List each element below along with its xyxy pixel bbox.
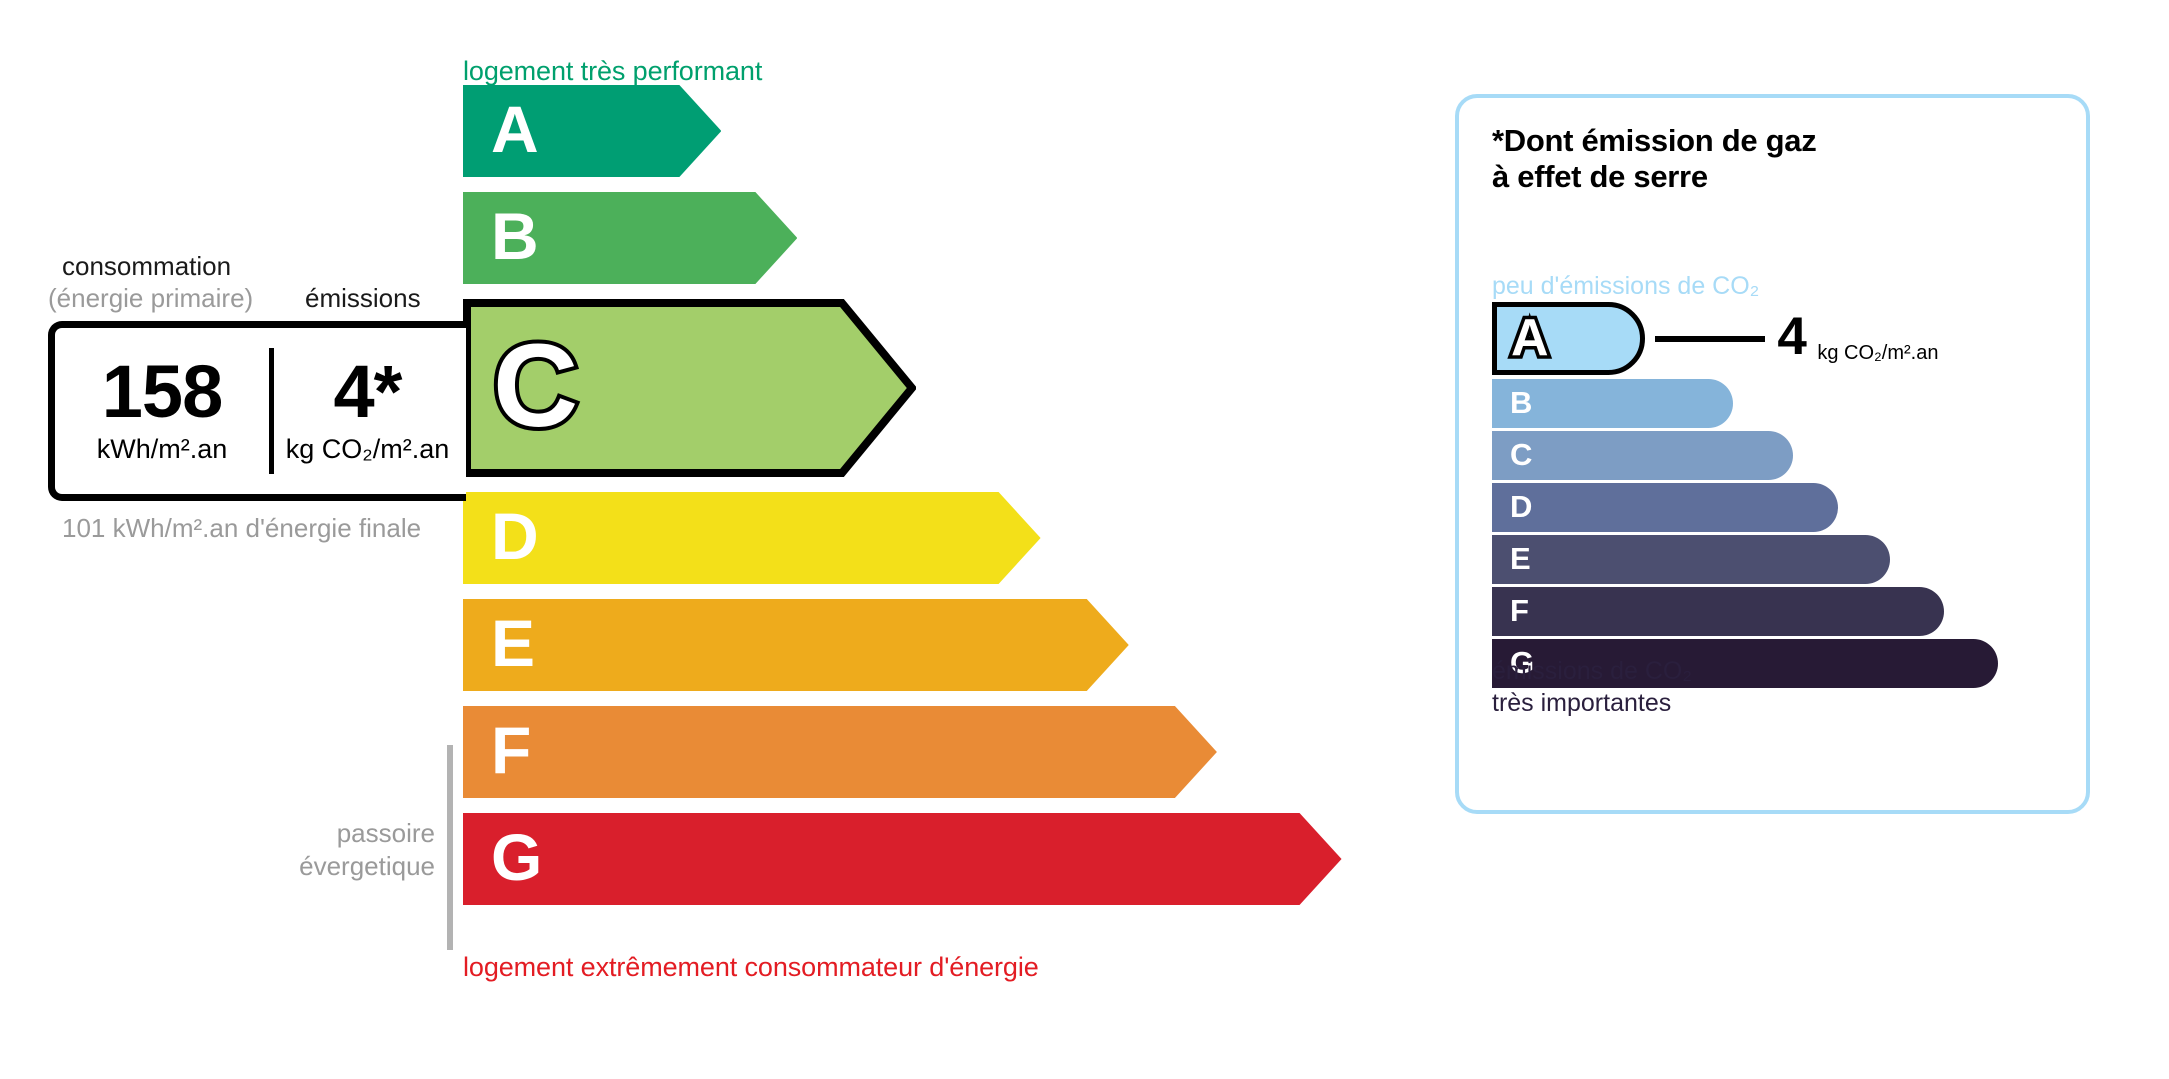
value-box-divider (269, 348, 274, 474)
energy-band-e: E (463, 599, 1129, 691)
emissions-label: émissions (305, 283, 421, 314)
ghg-bar-list: A4kg CO₂/m².anBCDEFG (1492, 302, 2062, 691)
energy-band-letter: C (493, 327, 578, 445)
energy-bottom-caption: logement extrêmement consommateur d'éner… (463, 952, 1039, 983)
ghg-bar-c: C (1492, 431, 1793, 480)
energy-band-letter: E (491, 610, 535, 676)
ghg-bar-letter: B (1510, 387, 1532, 418)
ghg-panel-title: *Dont émission de gaz à effet de serre (1492, 123, 1816, 196)
energy-band-letter: D (491, 503, 539, 569)
energy-band-letter: A (491, 96, 539, 162)
energy-band-letter: F (491, 717, 531, 783)
consumption-sub-label: (énergie primaire) (48, 283, 253, 314)
emissions-value: 4* (334, 357, 402, 427)
consumption-label: consommation (62, 251, 231, 282)
ghg-row-d: D (1492, 483, 2062, 532)
ghg-row-b: B (1492, 379, 2062, 428)
ghg-row-e: E (1492, 535, 2062, 584)
ghg-bar-b: B (1492, 379, 1733, 428)
ghg-bar-letter: D (1510, 491, 1532, 522)
energy-band-b: B (463, 192, 797, 284)
ghg-row-a: A4kg CO₂/m².an (1492, 302, 2062, 375)
consumption-value: 158 (102, 357, 222, 427)
energy-performance-chart: logement très performant ABCDEFG consomm… (0, 0, 1400, 1079)
energy-band-shape-e (463, 599, 1129, 691)
ghg-bar-a: A (1492, 302, 1645, 375)
ghg-bar-letter: E (1510, 543, 1531, 574)
ghg-bar-letter: C (1510, 439, 1532, 470)
energy-top-caption: logement très performant (463, 56, 762, 87)
ghg-bottom-caption: émissions de CO₂ très importantes (1492, 655, 1692, 719)
ghg-value-unit: kg CO₂/m².an (1817, 342, 1938, 365)
dpe-label: logement très performant ABCDEFG consomm… (0, 0, 2169, 1079)
energy-band-f: F (463, 706, 1217, 798)
ghg-bar-e: E (1492, 535, 1890, 584)
emissions-unit: kg CO₂/m².an (286, 434, 450, 465)
ghg-bar-f: F (1492, 587, 1944, 636)
ghg-bar-d: D (1492, 483, 1838, 532)
passoire-bracket (447, 745, 453, 950)
ghg-bar-letter: F (1510, 595, 1529, 626)
energy-band-letter: B (491, 203, 539, 269)
energy-value-labels: consommation (énergie primaire) émission… (0, 0, 463, 340)
ghg-leader-line (1655, 336, 1765, 342)
energy-band-g: G (463, 813, 1342, 905)
value-box: 158 kWh/m².an 4* kg CO₂/m².an (48, 321, 466, 501)
emissions-cell: 4* kg CO₂/m².an (269, 328, 466, 494)
energy-band-list: ABCDEFG (463, 85, 1343, 950)
ghg-top-caption: peu d'émissions de CO₂ (1492, 272, 1759, 301)
ghg-value: 4 (1777, 310, 1806, 363)
energy-band-a: A (463, 85, 721, 177)
consumption-cell: 158 kWh/m².an (55, 328, 269, 494)
ghg-bar-letter: A (1511, 312, 1549, 364)
energy-band-shape-f (463, 706, 1217, 798)
energy-band-shape-d (463, 492, 1041, 584)
final-energy-note: 101 kWh/m².an d'énergie finale (62, 512, 421, 545)
ghg-emissions-panel: *Dont émission de gaz à effet de serre p… (1455, 94, 2090, 814)
ghg-row-c: C (1492, 431, 2062, 480)
energy-band-letter: G (491, 824, 542, 890)
energy-band-shape-g (463, 813, 1342, 905)
energy-band-c: C (463, 299, 916, 477)
ghg-row-f: F (1492, 587, 2062, 636)
consumption-unit: kWh/m².an (97, 434, 228, 465)
energy-band-d: D (463, 492, 1041, 584)
passoire-label: passoire évergetique (275, 817, 435, 884)
